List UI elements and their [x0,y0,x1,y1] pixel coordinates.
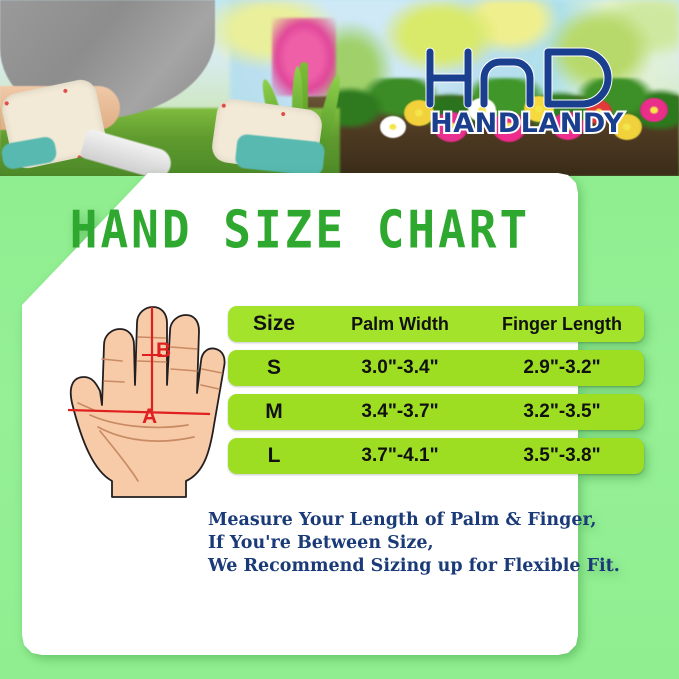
sizing-note-line-1: Measure Your Length of Palm & Finger, [208,509,588,532]
photo-flower-white-2 [380,116,406,138]
handlandy-logo: HANDLANDY [424,44,630,136]
brand-name-text: HANDLANDY [430,108,624,136]
table-row: L 3.7"-4.1" 3.5"-3.8" [228,438,644,474]
photo-flower-magenta-4 [640,98,668,122]
column-header-palm-width: Palm Width [320,314,480,335]
column-header-finger-length: Finger Length [480,314,644,335]
size-table: Size Palm Width Finger Length S 3.0"-3.4… [228,306,644,482]
size-chart-page: HANDLANDY HAND SIZE CHART [0,0,679,679]
column-header-size: Size [228,312,320,336]
sizing-note: Measure Your Length of Palm & Finger, If… [208,509,588,578]
cell-finger-length: 3.2"-3.5" [480,401,644,423]
palm-width-label: A [142,405,157,429]
cell-size: S [228,356,320,380]
cell-palm-width: 3.7"-4.1" [320,445,480,467]
hand-measurement-diagram: B A [38,285,230,517]
table-row: M 3.4"-3.7" 3.2"-3.5" [228,394,644,430]
cell-finger-length: 3.5"-3.8" [480,445,644,467]
sizing-note-line-3: We Recommend Sizing up for Flexible Fit. [208,555,588,578]
finger-length-label: B [156,339,171,363]
cell-finger-length: 2.9"-3.2" [480,357,644,379]
cell-size: L [228,444,320,468]
cell-size: M [228,400,320,424]
chart-card: HAND SIZE CHART [22,173,578,655]
cell-palm-width: 3.0"-3.4" [320,357,480,379]
sizing-note-line-2: If You're Between Size, [208,532,588,555]
table-row: S 3.0"-3.4" 2.9"-3.2" [228,350,644,386]
table-header-row: Size Palm Width Finger Length [228,306,644,342]
page-title: HAND SIZE CHART [22,204,578,256]
cell-palm-width: 3.4"-3.7" [320,401,480,423]
